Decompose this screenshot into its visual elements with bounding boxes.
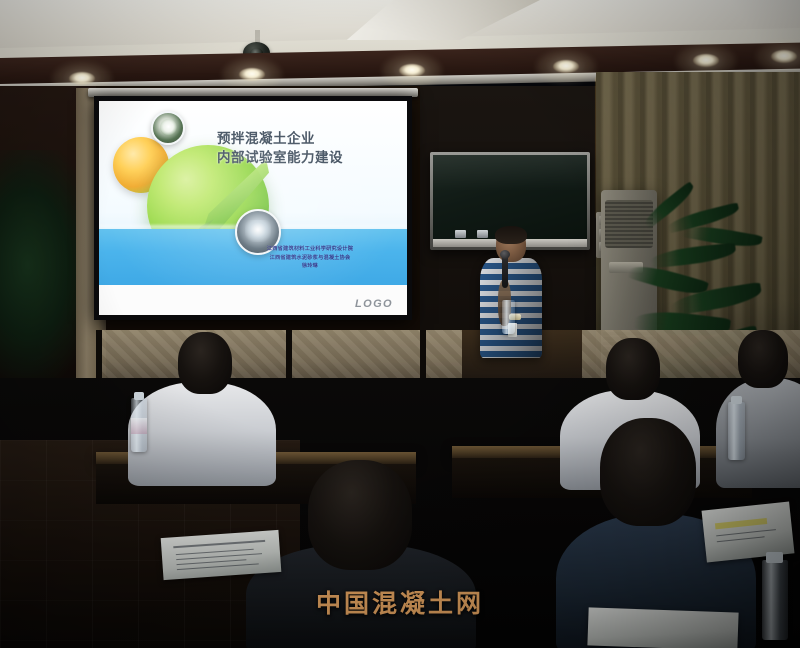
slide-subtitle-line-2: 江西省建筑水泥砂浆与混凝土协会 bbox=[219, 254, 401, 263]
downlight-4 bbox=[553, 60, 579, 73]
attendee-head bbox=[600, 418, 696, 526]
presenter-hair bbox=[495, 226, 527, 244]
slide-title-line-1: 预拌混凝土企业 bbox=[217, 129, 395, 148]
bottle-cap bbox=[731, 396, 742, 404]
paper-highlight bbox=[715, 518, 767, 529]
document-text-line bbox=[716, 529, 776, 536]
microphone-head-icon bbox=[500, 250, 510, 259]
downlight-6 bbox=[771, 50, 797, 63]
panel-divider bbox=[420, 330, 426, 382]
downlight-2 bbox=[239, 68, 265, 81]
water-bottle[interactable] bbox=[502, 300, 515, 334]
panel-divider bbox=[96, 330, 102, 382]
slide-subtitle-line-3: 徐玲琳 bbox=[219, 262, 401, 271]
conference-room-photo: 预拌混凝土企业 内部试验室能力建设 江西省建筑材料工业科学研究设计院 江西省建筑… bbox=[0, 0, 800, 648]
list-item bbox=[128, 332, 276, 472]
attendee-head bbox=[308, 460, 412, 570]
flower-photo-inner bbox=[160, 119, 177, 136]
downlight-5 bbox=[693, 54, 719, 67]
attendee-head bbox=[178, 332, 232, 394]
watermark: 中国混凝土网 bbox=[0, 584, 800, 620]
panel-divider bbox=[286, 330, 292, 382]
printed-handout-document[interactable] bbox=[161, 530, 282, 580]
device-box-1 bbox=[455, 230, 466, 238]
slide-subtitle-line-1: 江西省建筑材料工业科学研究设计院 bbox=[219, 245, 401, 254]
slide-title: 预拌混凝土企业 内部试验室能力建设 bbox=[217, 129, 395, 167]
presenter-speaking bbox=[478, 228, 548, 358]
bottle-cap bbox=[134, 392, 144, 400]
tree-photo-inner bbox=[245, 220, 271, 242]
slide-subtitle: 江西省建筑材料工业科学研究设计院 江西省建筑水泥砂浆与混凝土协会 徐玲琳 bbox=[219, 245, 401, 271]
downlight-3 bbox=[399, 64, 425, 77]
attendee-head bbox=[606, 338, 660, 400]
document-text-line bbox=[717, 536, 765, 542]
palm-frond bbox=[649, 243, 736, 269]
slide-logo: LOGO bbox=[355, 298, 393, 310]
document-text-line bbox=[177, 563, 259, 570]
television-screen-glare bbox=[433, 155, 587, 191]
bottle-label bbox=[131, 418, 147, 434]
flower-photo-circle bbox=[151, 111, 185, 145]
attendee-head bbox=[738, 330, 788, 388]
bottle-cap bbox=[766, 552, 783, 563]
projection-screen: 预拌混凝土企业 内部试验室能力建设 江西省建筑材料工业科学研究设计院 江西省建筑… bbox=[99, 101, 407, 315]
document-heading-line bbox=[173, 540, 265, 548]
slide-title-line-2: 内部试验室能力建设 bbox=[217, 148, 395, 167]
downlight-1 bbox=[69, 72, 95, 85]
microphone-icon bbox=[502, 254, 508, 288]
